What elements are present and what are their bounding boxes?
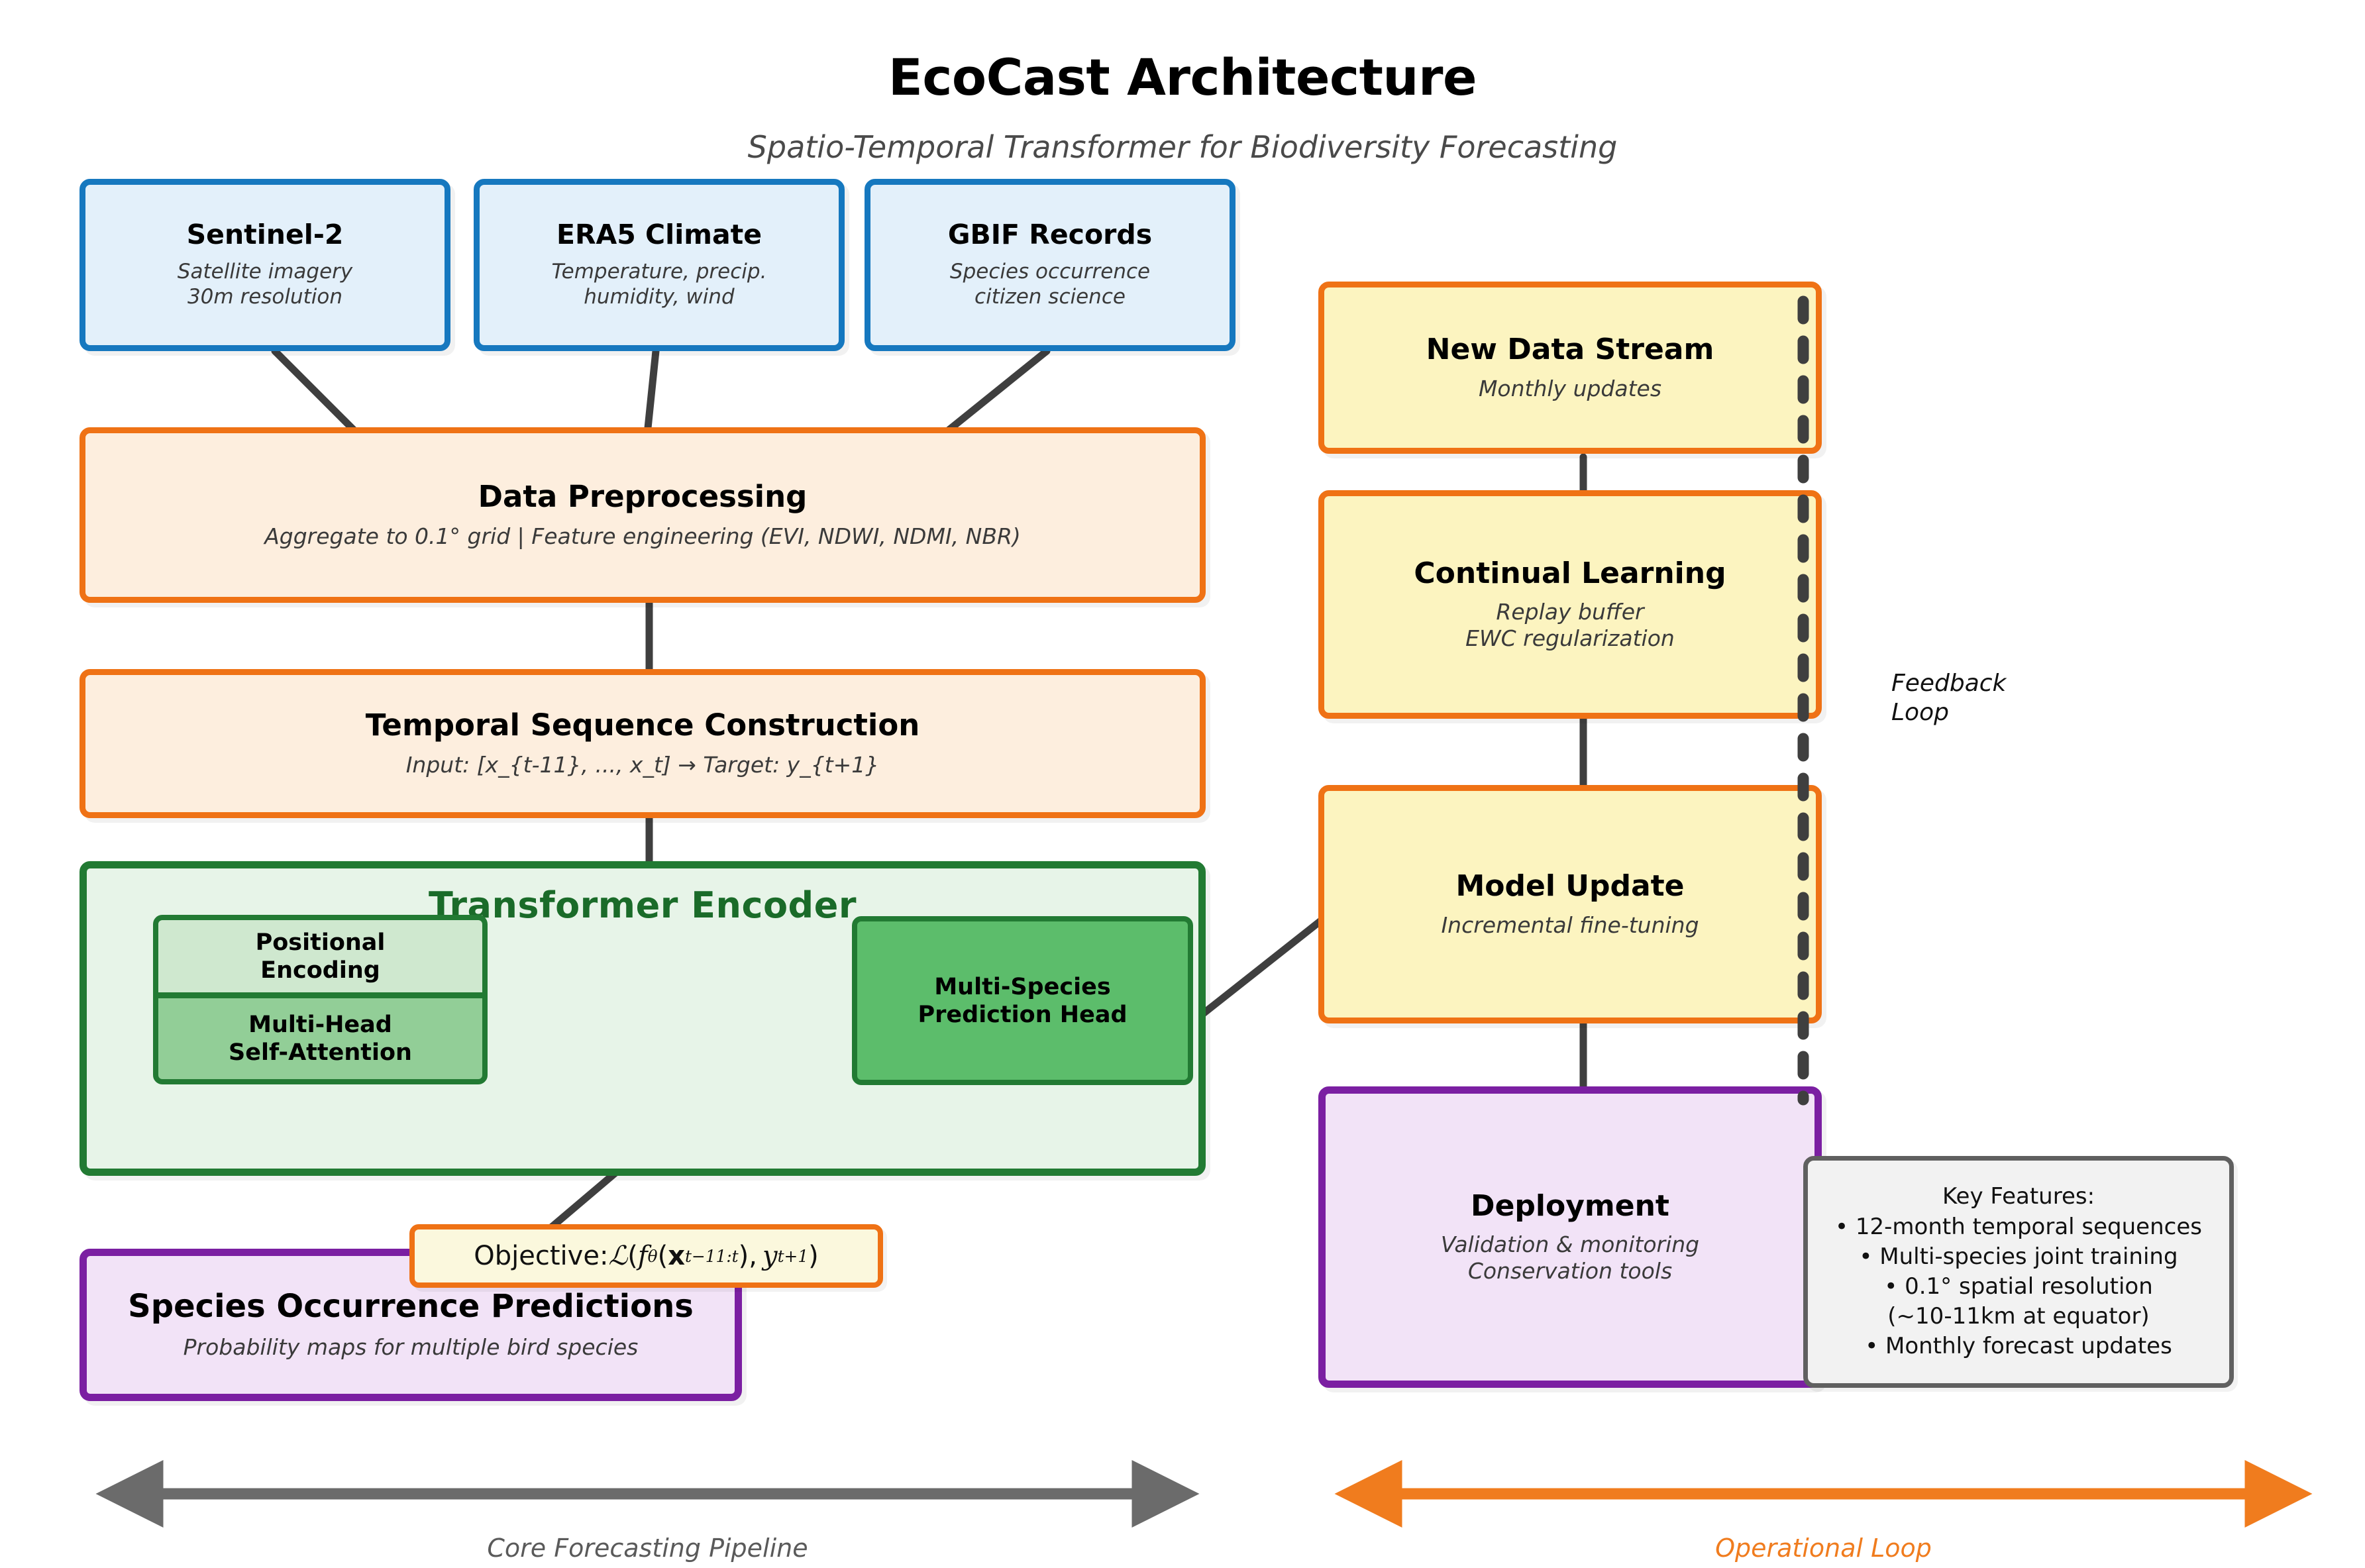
key-features-item: (~10-11km at equator)	[1887, 1302, 2149, 1332]
ops-box-model-update[interactable]: Model Update Incremental fine-tuning	[1318, 785, 1822, 1023]
process-box-data-preprocessing[interactable]: Data Preprocessing Aggregate to 0.1° gri…	[79, 427, 1206, 603]
ops-subtitle: Validation & monitoringConservation tool…	[1441, 1231, 1699, 1285]
process-title: Temporal Sequence Construction	[366, 709, 920, 742]
objective-x-vector: x	[668, 1241, 685, 1271]
encoder-block-label: Multi-SpeciesPrediction Head	[918, 973, 1127, 1029]
source-title: Sentinel-2	[187, 220, 344, 250]
ops-subtitle: Replay bufferEWC regularization	[1465, 599, 1675, 653]
ops-title: Continual Learning	[1414, 557, 1726, 590]
page-title: EcoCast Architecture	[0, 48, 2365, 107]
objective-y-subscript: t+1	[778, 1247, 809, 1266]
objective-theta: θ	[648, 1247, 658, 1266]
ops-box-continual-learning[interactable]: Continual Learning Replay bufferEWC regu…	[1318, 490, 1822, 719]
key-features-item: • 0.1° spatial resolution	[1884, 1272, 2153, 1302]
key-features-item: • Multi-species joint training	[1859, 1242, 2178, 1272]
encoder-block-prediction-head[interactable]: Multi-SpeciesPrediction Head	[852, 916, 1193, 1085]
encoder-block-label: PositionalEncoding	[256, 929, 386, 984]
objective-formula: Objective: ℒ(fθ(xt−11:t), yt+1)	[409, 1224, 883, 1288]
output-subtitle: Probability maps for multiple bird speci…	[184, 1334, 639, 1361]
process-box-temporal-sequence[interactable]: Temporal Sequence Construction Input: [x…	[79, 669, 1206, 818]
encoder-block-multihead-attention[interactable]: Multi-HeadSelf-Attention	[153, 993, 488, 1084]
source-box-gbif[interactable]: GBIF Records Species occurrencecitizen s…	[865, 179, 1235, 351]
output-title: Species Occurrence Predictions	[128, 1289, 694, 1325]
feedback-loop-label: FeedbackLoop	[1891, 669, 2006, 727]
core-pipeline-label: Core Forecasting Pipeline	[113, 1534, 1182, 1563]
ops-title: New Data Stream	[1426, 333, 1714, 366]
key-features-heading: Key Features:	[1942, 1182, 2095, 1212]
objective-x-subscript: t−11:t	[685, 1247, 739, 1266]
source-subtitle: Satellite imagery30m resolution	[178, 260, 352, 310]
key-features-item: • 12-month temporal sequences	[1835, 1212, 2202, 1242]
source-box-sentinel2[interactable]: Sentinel-2 Satellite imagery30m resoluti…	[79, 179, 450, 351]
ops-title: Deployment	[1471, 1190, 1669, 1222]
encoder-container[interactable]: Transformer Encoder PositionalEncoding M…	[79, 861, 1206, 1176]
objective-prefix: Objective:	[474, 1241, 608, 1271]
source-title: ERA5 Climate	[556, 220, 762, 250]
objective-loss-symbol: ℒ	[608, 1241, 627, 1271]
ops-box-new-data-stream[interactable]: New Data Stream Monthly updates	[1318, 282, 1822, 454]
wire-head-to-model-update	[1199, 917, 1325, 1017]
source-box-era5[interactable]: ERA5 Climate Temperature, precip.humidit…	[474, 179, 845, 351]
ops-subtitle: Monthly updates	[1479, 376, 1661, 402]
operational-loop-label: Operational Loop	[1351, 1534, 2295, 1563]
source-subtitle: Species occurrencecitizen science	[950, 260, 1150, 310]
ops-box-deployment[interactable]: Deployment Validation & monitoringConser…	[1318, 1086, 1822, 1388]
page-subtitle: Spatio-Temporal Transformer for Biodiver…	[0, 129, 2365, 165]
objective-fn-symbol: f	[638, 1241, 648, 1271]
source-title: GBIF Records	[948, 220, 1152, 250]
process-subtitle: Aggregate to 0.1° grid | Feature enginee…	[264, 523, 1021, 550]
objective-y-var: y	[762, 1241, 778, 1271]
ops-subtitle: Incremental fine-tuning	[1441, 912, 1699, 939]
process-subtitle: Input: [x_{t-11}, ..., x_t] → Target: y_…	[406, 752, 880, 778]
ops-title: Model Update	[1455, 870, 1684, 902]
source-subtitle: Temperature, precip.humidity, wind	[552, 260, 767, 310]
encoder-block-positional-encoding[interactable]: PositionalEncoding	[153, 915, 488, 998]
key-features-panel: Key Features: • 12-month temporal sequen…	[1803, 1156, 2234, 1388]
process-title: Data Preprocessing	[478, 480, 808, 513]
key-features-item: • Monthly forecast updates	[1865, 1332, 2172, 1361]
encoder-block-label: Multi-HeadSelf-Attention	[229, 1011, 412, 1067]
